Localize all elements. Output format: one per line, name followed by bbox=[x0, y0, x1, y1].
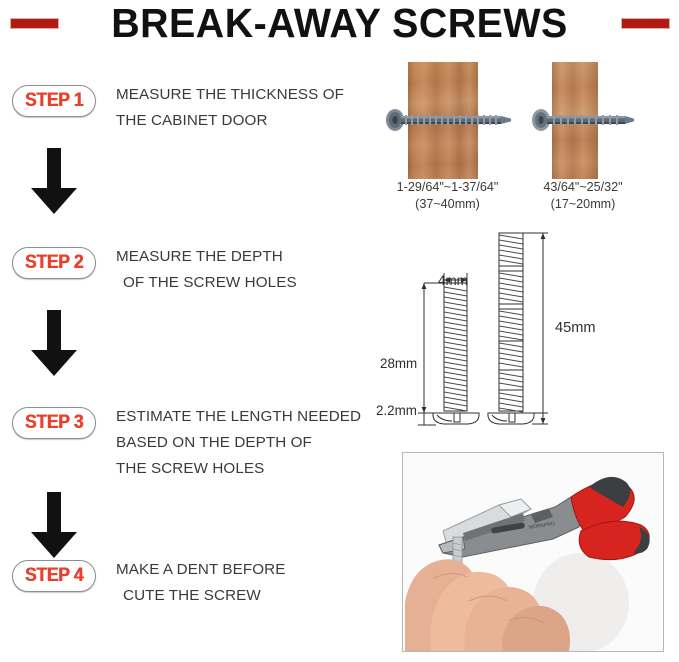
screw-length-label-28: 28mm bbox=[380, 356, 417, 371]
figure-screw-dimensions: 4mm 28mm 2.2mm 45mm bbox=[380, 225, 679, 440]
board-thin-caption-mm: (17~20mm) bbox=[520, 196, 646, 213]
arrow-down-icon-3 bbox=[25, 492, 83, 562]
step-badge-2: STEP 2 bbox=[12, 247, 96, 279]
figure-pliers-photo: WORKPRO bbox=[402, 452, 664, 652]
title-dash-right-icon bbox=[621, 18, 670, 29]
step-2-line-1: MEASURE THE DEPTH bbox=[116, 244, 378, 270]
step-2-line-2: OF THE SCREW HOLES bbox=[116, 270, 378, 296]
step-1-line-2: THE CABINET DOOR bbox=[116, 108, 378, 134]
screw-width-label: 4mm bbox=[438, 273, 468, 288]
screw-length-label-45: 45mm bbox=[555, 320, 596, 336]
step-badge-4-label: STEP 4 bbox=[16, 561, 91, 591]
infographic-page: BREAK-AWAY SCREWS STEP 1 MEASURE THE THI… bbox=[0, 0, 679, 662]
step-badge-4: STEP 4 bbox=[12, 560, 96, 592]
step-4-text: MAKE A DENT BEFORE CUTE THE SCREW bbox=[116, 557, 378, 609]
steps-column: STEP 1 MEASURE THE THICKNESS OF THE CABI… bbox=[0, 55, 380, 655]
step-3-line-3: THE SCREW HOLES bbox=[116, 456, 378, 482]
step-1-text: MEASURE THE THICKNESS OF THE CABINET DOO… bbox=[116, 82, 378, 134]
step-badge-3: STEP 3 bbox=[12, 407, 96, 439]
screw-long-photo-icon bbox=[383, 108, 513, 137]
screw-head-thickness-label: 2.2mm bbox=[376, 403, 417, 418]
board-thick-caption-inch: 1-29/64"~1-37/64" bbox=[380, 179, 515, 196]
step-3-line-2: BASED ON THE DEPTH OF bbox=[116, 430, 378, 456]
step-4-line-2: CUTE THE SCREW bbox=[116, 583, 378, 609]
step-3-line-1: ESTIMATE THE LENGTH NEEDED bbox=[116, 404, 378, 430]
arrow-down-icon-1 bbox=[25, 148, 83, 218]
step-badge-1: STEP 1 bbox=[12, 85, 96, 117]
step-2-text: MEASURE THE DEPTH OF THE SCREW HOLES bbox=[116, 244, 378, 296]
board-thick-caption-mm: (37~40mm) bbox=[380, 196, 515, 213]
header: BREAK-AWAY SCREWS bbox=[0, 0, 679, 52]
screw-short-photo-icon bbox=[529, 108, 635, 137]
screw-dimension-drawing bbox=[380, 225, 679, 440]
pliers-and-hand-illustration: WORKPRO bbox=[403, 453, 663, 651]
step-4-line-1: MAKE A DENT BEFORE bbox=[116, 557, 378, 583]
arrow-down-icon-2 bbox=[25, 310, 83, 380]
board-thin-caption-inch: 43/64"~25/32" bbox=[520, 179, 646, 196]
step-3-text: ESTIMATE THE LENGTH NEEDED BASED ON THE … bbox=[116, 404, 378, 482]
step-badge-2-label: STEP 2 bbox=[16, 248, 91, 278]
step-badge-3-label: STEP 3 bbox=[16, 408, 91, 438]
step-badge-1-label: STEP 1 bbox=[16, 86, 91, 116]
figure-boards: 1-29/64"~1-37/64" (37~40mm) 43/64"~25/32… bbox=[380, 55, 679, 220]
page-title: BREAK-AWAY SCREWS bbox=[14, 0, 666, 46]
step-1-line-1: MEASURE THE THICKNESS OF bbox=[116, 82, 378, 108]
